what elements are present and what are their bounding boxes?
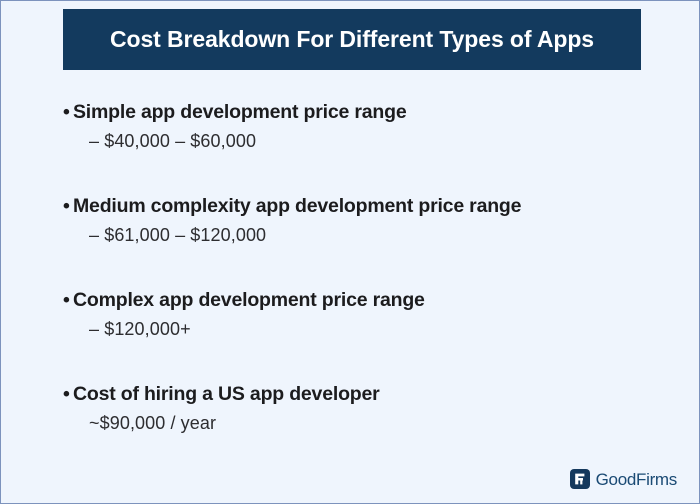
goodfirms-logo-icon [570, 469, 590, 489]
bullet-heading-label: Complex app development price range [73, 289, 425, 312]
brand-name-label: GoodFirms [596, 471, 677, 488]
bullet-subline-label: – $40,000 – $60,000 [63, 131, 659, 153]
bullet-heading-label: Medium complexity app development price … [73, 195, 521, 218]
infographic-card: Cost Breakdown For Different Types of Ap… [0, 0, 700, 504]
bullet-heading-label: Simple app development price range [73, 101, 406, 124]
bullet-heading: • Complex app development price range [63, 289, 659, 312]
bullet-subline-label: – $120,000+ [63, 319, 659, 341]
list-item: • Simple app development price range – $… [63, 101, 659, 153]
bullet-subline-label: ~$90,000 / year [63, 413, 659, 435]
list-item: • Medium complexity app development pric… [63, 195, 659, 247]
bullet-list: • Simple app development price range – $… [63, 101, 659, 435]
brand-logo: GoodFirms [570, 469, 677, 489]
bullet-dot-icon: • [63, 289, 73, 312]
title-bar: Cost Breakdown For Different Types of Ap… [63, 9, 641, 70]
list-item: • Complex app development price range – … [63, 289, 659, 341]
bullet-heading: • Medium complexity app development pric… [63, 195, 659, 218]
list-item: • Cost of hiring a US app developer ~$90… [63, 383, 659, 435]
bullet-dot-icon: • [63, 195, 73, 218]
bullet-heading: • Simple app development price range [63, 101, 659, 124]
page-title: Cost Breakdown For Different Types of Ap… [110, 28, 594, 51]
bullet-heading-label: Cost of hiring a US app developer [73, 383, 380, 406]
bullet-dot-icon: • [63, 383, 73, 406]
bullet-heading: • Cost of hiring a US app developer [63, 383, 659, 406]
bullet-subline-label: – $61,000 – $120,000 [63, 225, 659, 247]
bullet-dot-icon: • [63, 101, 73, 124]
